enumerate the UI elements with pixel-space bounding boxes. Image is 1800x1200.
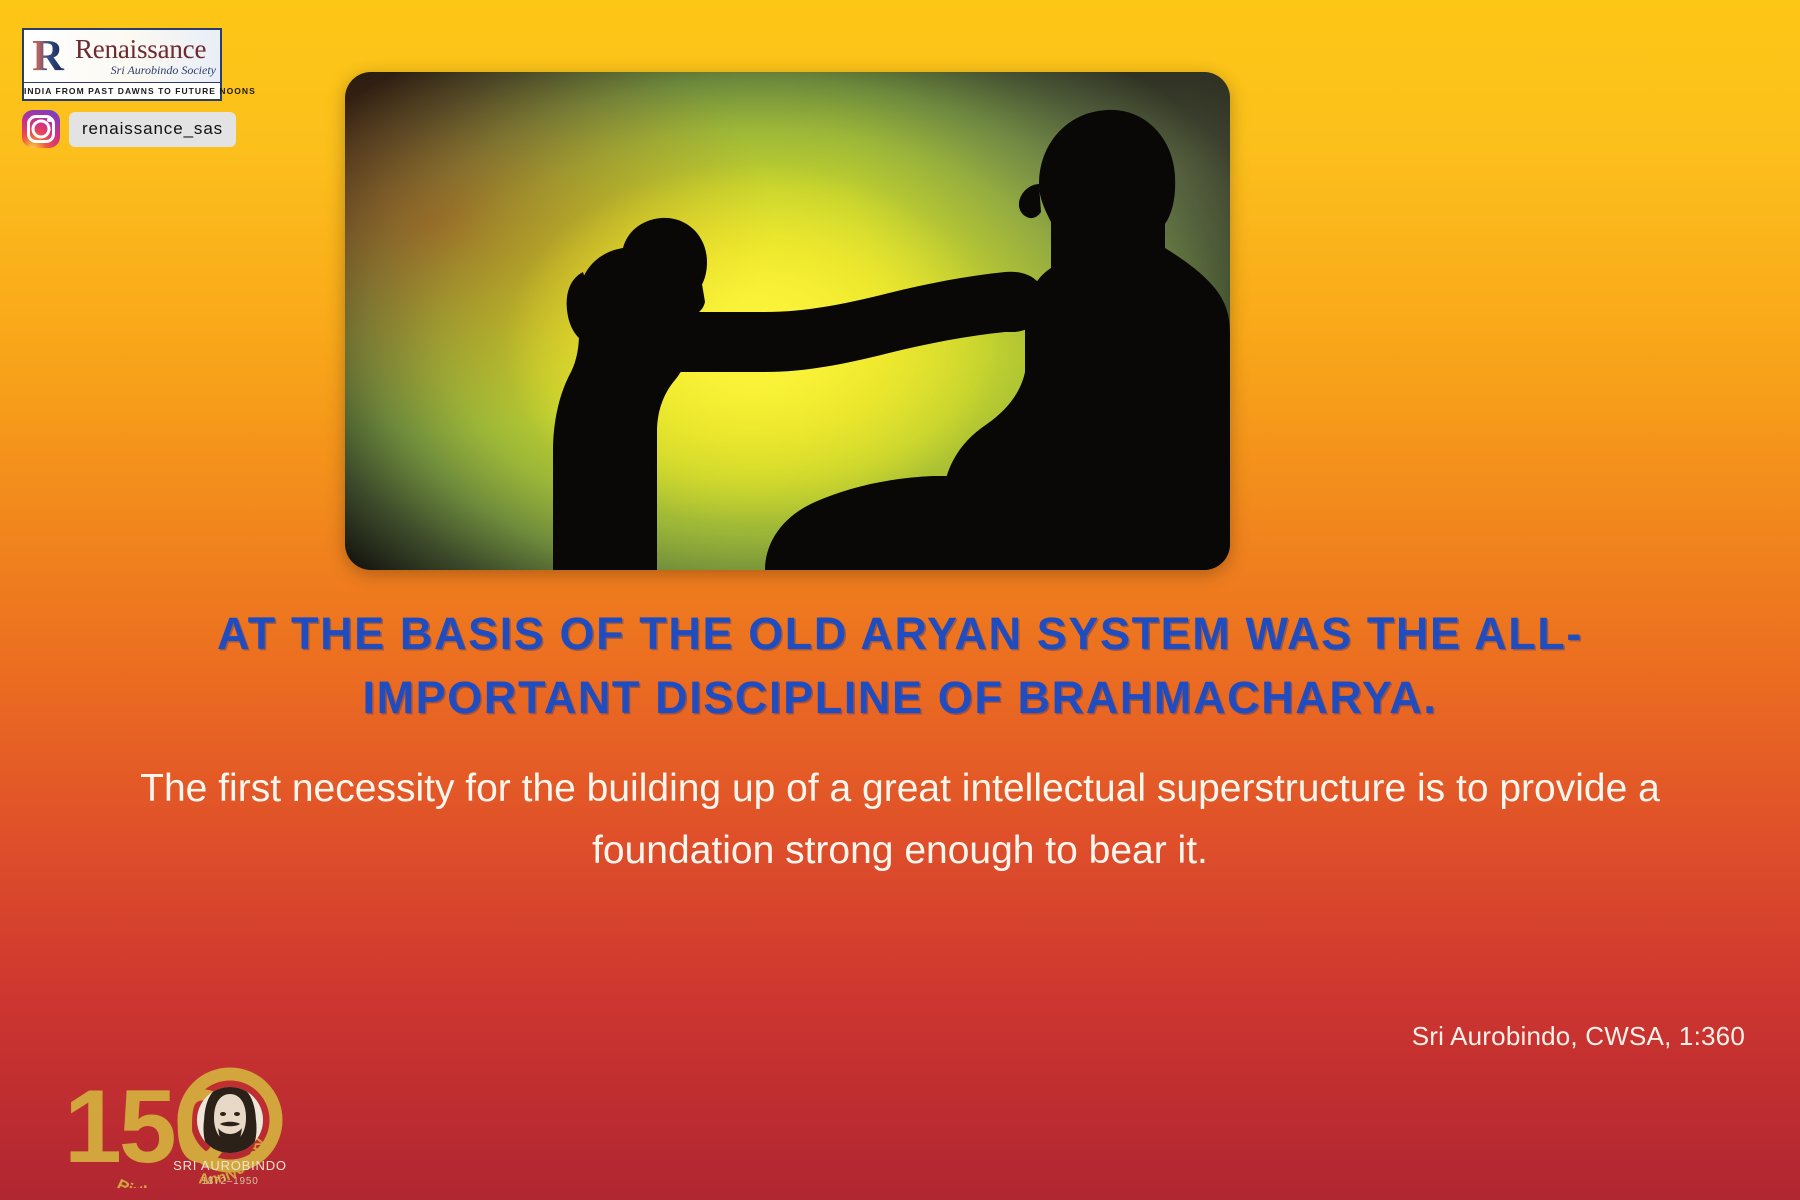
emblem-person-name: SRI AUROBINDO xyxy=(173,1158,287,1173)
logo-title: Renaissance xyxy=(75,35,220,63)
anniversary-emblem: 150 B xyxy=(58,1062,294,1188)
logo-main-row: R Renaissance Sri Aurobindo Society xyxy=(24,30,220,82)
hero-silhouettes xyxy=(345,72,1230,570)
quote-attribution: Sri Aurobindo, CWSA, 1:360 xyxy=(0,1021,1745,1052)
instagram-row[interactable]: renaissance_sas xyxy=(22,110,262,148)
emblem-years: 1872–1950 xyxy=(201,1176,258,1187)
quote-poster: R Renaissance Sri Aurobindo Society INDI… xyxy=(0,0,1800,1200)
instagram-icon-dot xyxy=(47,118,51,122)
instagram-icon[interactable] xyxy=(22,110,60,148)
renaissance-logo: R Renaissance Sri Aurobindo Society INDI… xyxy=(22,28,222,101)
logo-society: Sri Aurobindo Society xyxy=(75,63,220,77)
logo-tagline: INDIA FROM PAST DAWNS TO FUTURE NOONS xyxy=(24,82,220,99)
logo-monogram-r: R xyxy=(24,30,72,82)
quote-text: The first necessity for the building up … xyxy=(85,758,1715,882)
brand-block: R Renaissance Sri Aurobindo Society INDI… xyxy=(22,28,262,148)
anniversary-emblem-graphic: 150 B xyxy=(58,1062,294,1188)
blessing-silhouette-image xyxy=(345,72,1230,570)
logo-wordmark: Renaissance Sri Aurobindo Society xyxy=(72,30,220,82)
page-title: At the basis of the old Aryan system was… xyxy=(90,602,1710,730)
instagram-handle[interactable]: renaissance_sas xyxy=(69,112,236,147)
instagram-icon-lens xyxy=(32,120,51,139)
